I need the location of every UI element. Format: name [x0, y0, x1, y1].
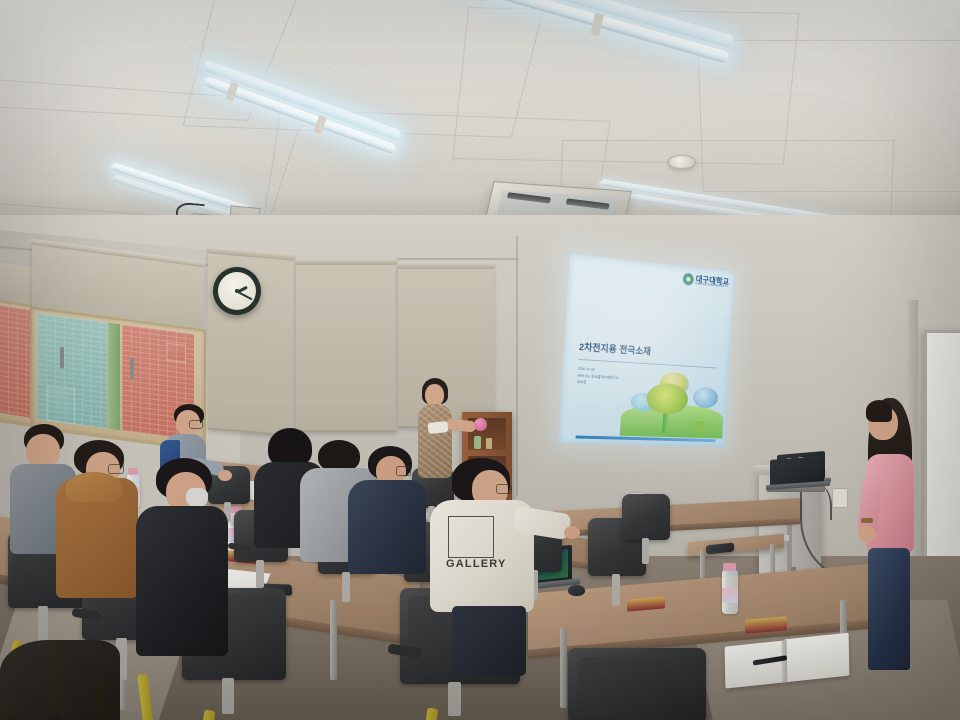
legs — [868, 548, 910, 670]
hand — [564, 526, 580, 539]
torso — [136, 506, 228, 656]
chair[interactable] — [622, 494, 672, 566]
foreground-shadow — [0, 640, 120, 720]
chair[interactable] — [568, 648, 718, 720]
held-object — [474, 418, 487, 431]
window-blind-roll[interactable] — [294, 258, 398, 265]
artwork-house — [694, 421, 705, 433]
torso — [348, 480, 426, 574]
logo-text-english: DAEGU UNIVERSITY — [695, 282, 729, 289]
hand — [858, 526, 876, 542]
head — [425, 384, 444, 406]
slide-meta: 2020. 9. 24 HPK Inc. 탄소흡착소재연구소 김소연 — [577, 366, 619, 388]
glasses — [496, 484, 512, 494]
slide-artwork — [620, 364, 726, 439]
head — [26, 434, 60, 468]
lecture-room-photo: 대구대학교 DAEGU UNIVERSITY 2차전지용 전극소재 2020. … — [0, 0, 960, 720]
table-leg — [560, 628, 567, 708]
slide-title: 2차전지용 전극소재 — [579, 339, 652, 358]
legs — [452, 606, 526, 676]
presenter-standing-right — [856, 398, 926, 678]
bottle-label — [722, 588, 738, 603]
projection-screen: 대구대학교 DAEGU UNIVERSITY 2차전지용 전극소재 2020. … — [558, 253, 734, 447]
attendee-black-masked — [136, 458, 256, 658]
artwork-bubble-earth — [693, 387, 719, 409]
window-blind-roll[interactable] — [396, 262, 496, 269]
bottle-cap — [723, 563, 736, 571]
presentation-slide: 대구대학교 DAEGU UNIVERSITY 2차전지용 전극소재 2020. … — [558, 253, 734, 447]
whiteboard — [924, 330, 960, 566]
cabinet-item — [474, 436, 481, 449]
university-logo: 대구대학교 DAEGU UNIVERSITY — [683, 273, 730, 290]
glasses — [396, 466, 411, 476]
smoke-detector-icon — [668, 155, 696, 169]
face-mask — [186, 488, 208, 508]
cabinet-item — [486, 438, 492, 449]
held-white-object — [427, 421, 448, 434]
glasses — [189, 420, 203, 429]
wall-clock — [213, 267, 261, 315]
table-leg — [330, 600, 337, 680]
wristwatch — [861, 518, 873, 523]
glasses — [108, 464, 124, 474]
window-blind[interactable] — [296, 262, 396, 432]
attendee-navy — [348, 446, 438, 572]
sweatshirt-graphic-text: GALLERY — [446, 558, 507, 570]
hood — [66, 472, 122, 502]
attendee-gallery-sweatshirt: GALLERY — [430, 458, 570, 618]
daegu-university-logomark — [683, 273, 695, 286]
sweatshirt-graphic-box — [448, 516, 494, 558]
hair-front — [866, 400, 892, 422]
computer-mouse[interactable] — [568, 585, 585, 596]
